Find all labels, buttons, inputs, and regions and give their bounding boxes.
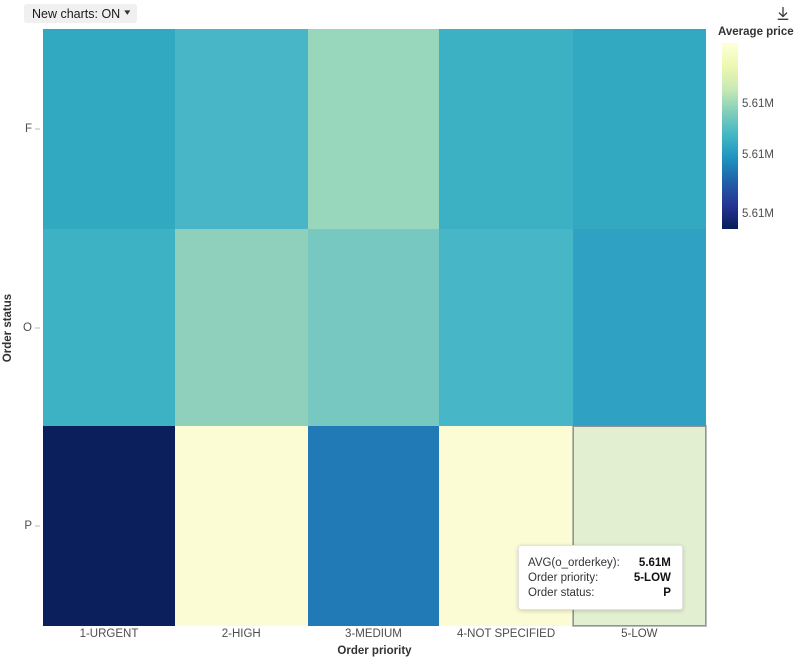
- heatmap-row-f: [43, 29, 706, 229]
- x-tick-label: 5-LOW: [573, 628, 706, 646]
- legend-tick-labels: 5.61M5.61M5.61M: [742, 43, 800, 229]
- legend-title: Average price: [718, 26, 800, 38]
- x-tick-label: 2-HIGH: [175, 628, 308, 646]
- heatmap-cell[interactable]: [308, 229, 440, 426]
- tooltip-label: Order status:: [528, 585, 634, 600]
- y-tick-label: F: [25, 123, 32, 135]
- tooltip-row: Order status:P: [528, 585, 671, 600]
- x-axis-ticks: 1-URGENT2-HIGH3-MEDIUM4-NOT SPECIFIED5-L…: [43, 628, 706, 646]
- heatmap-cell[interactable]: [43, 229, 175, 426]
- new-charts-toggle-dropdown[interactable]: New charts: ON ▾: [24, 4, 137, 23]
- x-tick-label: 1-URGENT: [43, 628, 175, 646]
- legend-tick-label: 5.61M: [742, 208, 774, 220]
- x-tick-label: 4-NOT SPECIFIED: [439, 628, 572, 646]
- new-charts-toggle-label: New charts: ON: [32, 7, 120, 21]
- heatmap-row-o: [43, 229, 706, 426]
- x-tick-label: 3-MEDIUM: [308, 628, 440, 646]
- toolbar: New charts: ON ▾: [0, 0, 800, 24]
- y-tick-mark: [35, 327, 40, 328]
- download-icon[interactable]: [774, 5, 792, 23]
- tooltip-row: Order priority:5-LOW: [528, 570, 671, 585]
- tooltip-row: AVG(o_orderkey):5.61M: [528, 555, 671, 570]
- chevron-down-icon: ▾: [124, 8, 130, 17]
- y-tick-label: P: [24, 520, 32, 532]
- heatmap-cell[interactable]: [175, 29, 308, 229]
- tooltip-label: AVG(o_orderkey):: [528, 555, 634, 570]
- heatmap-cell[interactable]: [573, 29, 706, 229]
- tooltip-label: Order priority:: [528, 570, 634, 585]
- tooltip: AVG(o_orderkey):5.61MOrder priority:5-LO…: [518, 545, 683, 610]
- legend: Average price 5.61M5.61M5.61M: [718, 26, 800, 239]
- heatmap-plot[interactable]: [43, 29, 706, 626]
- y-tick-label: O: [23, 322, 32, 334]
- tooltip-value: P: [634, 585, 671, 600]
- heatmap-cell[interactable]: [43, 29, 175, 229]
- heatmap-cell[interactable]: [439, 229, 572, 426]
- heatmap-cell[interactable]: [175, 229, 308, 426]
- tooltip-table: AVG(o_orderkey):5.61MOrder priority:5-LO…: [528, 555, 671, 600]
- heatmap-cell[interactable]: [308, 426, 440, 626]
- legend-body: 5.61M5.61M5.61M: [718, 43, 800, 239]
- y-axis-ticks: FOP: [0, 29, 43, 626]
- tooltip-value: 5.61M: [634, 555, 671, 570]
- heatmap-cell[interactable]: [308, 29, 440, 229]
- y-tick-mark: [35, 128, 40, 129]
- legend-tick-label: 5.61M: [742, 98, 774, 110]
- x-axis-title: Order priority: [43, 645, 706, 657]
- y-tick-mark: [35, 526, 40, 527]
- heatmap-cell[interactable]: [175, 426, 308, 626]
- legend-color-bar: [722, 43, 738, 229]
- heatmap-cell[interactable]: [43, 426, 175, 626]
- heatmap-cell[interactable]: [573, 229, 706, 426]
- legend-tick-label: 5.61M: [742, 149, 774, 161]
- heatmap-cell[interactable]: [439, 29, 572, 229]
- tooltip-value: 5-LOW: [634, 570, 671, 585]
